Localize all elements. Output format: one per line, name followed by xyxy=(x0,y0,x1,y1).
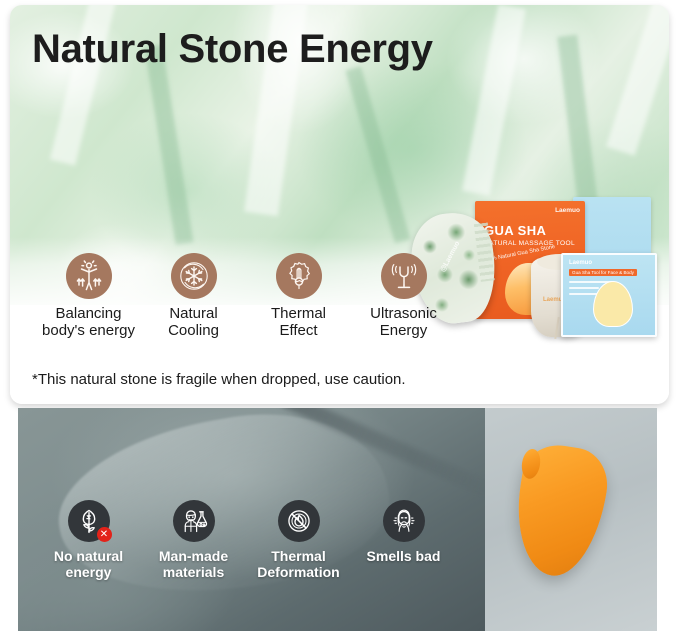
feature-smells-bad: Smells bad xyxy=(351,500,456,580)
snowflake-icon xyxy=(171,253,217,299)
natural-stone-card: Laemuo GUA SHA NATURAL MASSAGE TOOL 100%… xyxy=(10,5,669,404)
feature-man-made-materials: Man-made materials xyxy=(141,500,246,580)
orange-box-title: GUA SHA xyxy=(484,223,546,238)
orange-box-subtitle: NATURAL MASSAGE TOOL xyxy=(484,240,575,247)
feature-label: Man-made materials xyxy=(159,549,228,580)
positive-feature-row: Balancing body's energy Natural Cooling xyxy=(36,253,456,340)
blue-box-brand: Laemuo xyxy=(569,260,592,266)
tool-notch xyxy=(520,448,542,480)
thermometer-icon xyxy=(276,253,322,299)
feature-label: No natural energy xyxy=(54,549,123,580)
feature-natural-cooling: Natural Cooling xyxy=(141,253,246,340)
tuning-fork-icon xyxy=(381,253,427,299)
body-energy-icon xyxy=(66,253,112,299)
orange-box-brand: Laemuo xyxy=(555,207,580,214)
feature-label: Thermal Effect xyxy=(271,306,326,340)
feature-ultrasonic-energy: Ultrasonic Energy xyxy=(351,253,456,340)
feature-label: Thermal Deformation xyxy=(257,549,339,580)
feature-label: Smells bad xyxy=(367,549,441,565)
scientist-flask-icon xyxy=(173,500,215,542)
blue-box-silhouette xyxy=(593,281,633,327)
feature-balancing-energy: Balancing body's energy xyxy=(36,253,141,340)
feature-thermal-deformation: Thermal Deformation xyxy=(246,500,351,580)
blue-box-tagline: Gua Sha Tool for Face & Body xyxy=(569,269,637,276)
negative-feature-row: ✕ No natural energy Man-made materials xyxy=(36,500,466,580)
feature-label: Ultrasonic Energy xyxy=(370,306,437,340)
feature-no-natural-energy: ✕ No natural energy xyxy=(36,500,141,580)
red-x-badge: ✕ xyxy=(97,527,112,542)
bad-smell-face-icon xyxy=(383,500,425,542)
page-title: Natural Stone Energy xyxy=(32,27,433,72)
feature-label: Natural Cooling xyxy=(168,306,219,340)
orange-resin-gua-sha xyxy=(507,440,612,582)
disclaimer-text: *This natural stone is fragile when drop… xyxy=(32,371,406,388)
feature-thermal-effect: Thermal Effect xyxy=(246,253,351,340)
blue-gua-sha-box: Laemuo Gua Sha Tool for Face & Body xyxy=(561,253,657,337)
pouch-string xyxy=(554,317,559,339)
no-flame-icon xyxy=(278,500,320,542)
comparison-panel-light xyxy=(485,408,657,631)
feature-label: Balancing body's energy xyxy=(42,306,135,340)
leaf-no-energy-icon: ✕ xyxy=(68,500,110,542)
